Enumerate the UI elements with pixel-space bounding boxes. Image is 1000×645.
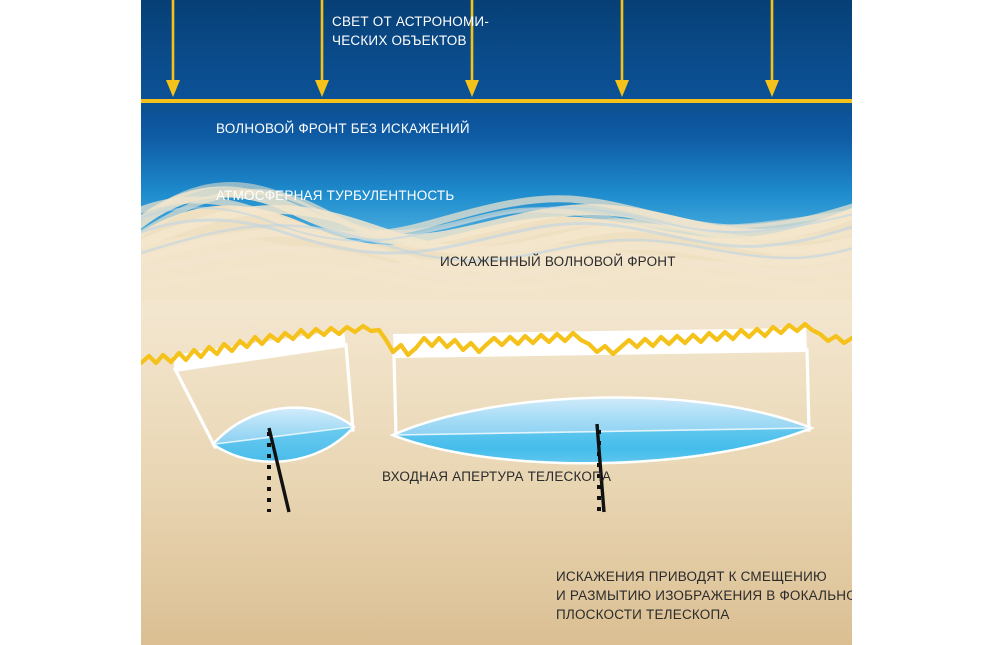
label-conclusion-line1: ИСКАЖЕНИЯ ПРИВОДЯТ К СМЕЩЕНИЮ [556,569,827,584]
label-aperture: ВХОДНАЯ АПЕРТУРА ТЕЛЕСКОПА [382,469,611,484]
label-starlight-line1: СВЕТ ОТ АСТРОНОМИ- [332,14,489,29]
upper-sky-tint [141,103,852,114]
label-turbulence: АТМОСФЕРНАЯ ТУРБУЛЕНТНОСТЬ [216,188,454,203]
flat-wavefront-line [141,99,852,103]
label-starlight-line2: ЧЕСКИХ ОБЪЕКТОВ [332,33,467,48]
label-conclusion-line2: И РАЗМЫТИЮ ИЗОБРАЖЕНИЯ В ФОКАЛЬНОЙ [556,588,852,603]
label-distorted-wavefront: ИСКАЖЕННЫЙ ВОЛНОВОЙ ФРОНТ [440,254,676,269]
label-flat-wavefront: ВОЛНОВОЙ ФРОНТ БЕЗ ИСКАЖЕНИЙ [216,121,470,136]
diagram-canvas: СВЕТ ОТ АСТРОНОМИ- ЧЕСКИХ ОБЪЕКТОВ ВОЛНО… [141,0,852,645]
atmospheric-turbulence-figure: СВЕТ ОТ АСТРОНОМИ- ЧЕСКИХ ОБЪЕКТОВ ВОЛНО… [141,0,852,645]
space-layer [141,0,852,99]
label-conclusion-line3: ПЛОСКОСТИ ТЕЛЕСКОПА [556,607,730,622]
diagram-root: СВЕТ ОТ АСТРОНОМИ- ЧЕСКИХ ОБЪЕКТОВ ВОЛНО… [0,0,1000,645]
